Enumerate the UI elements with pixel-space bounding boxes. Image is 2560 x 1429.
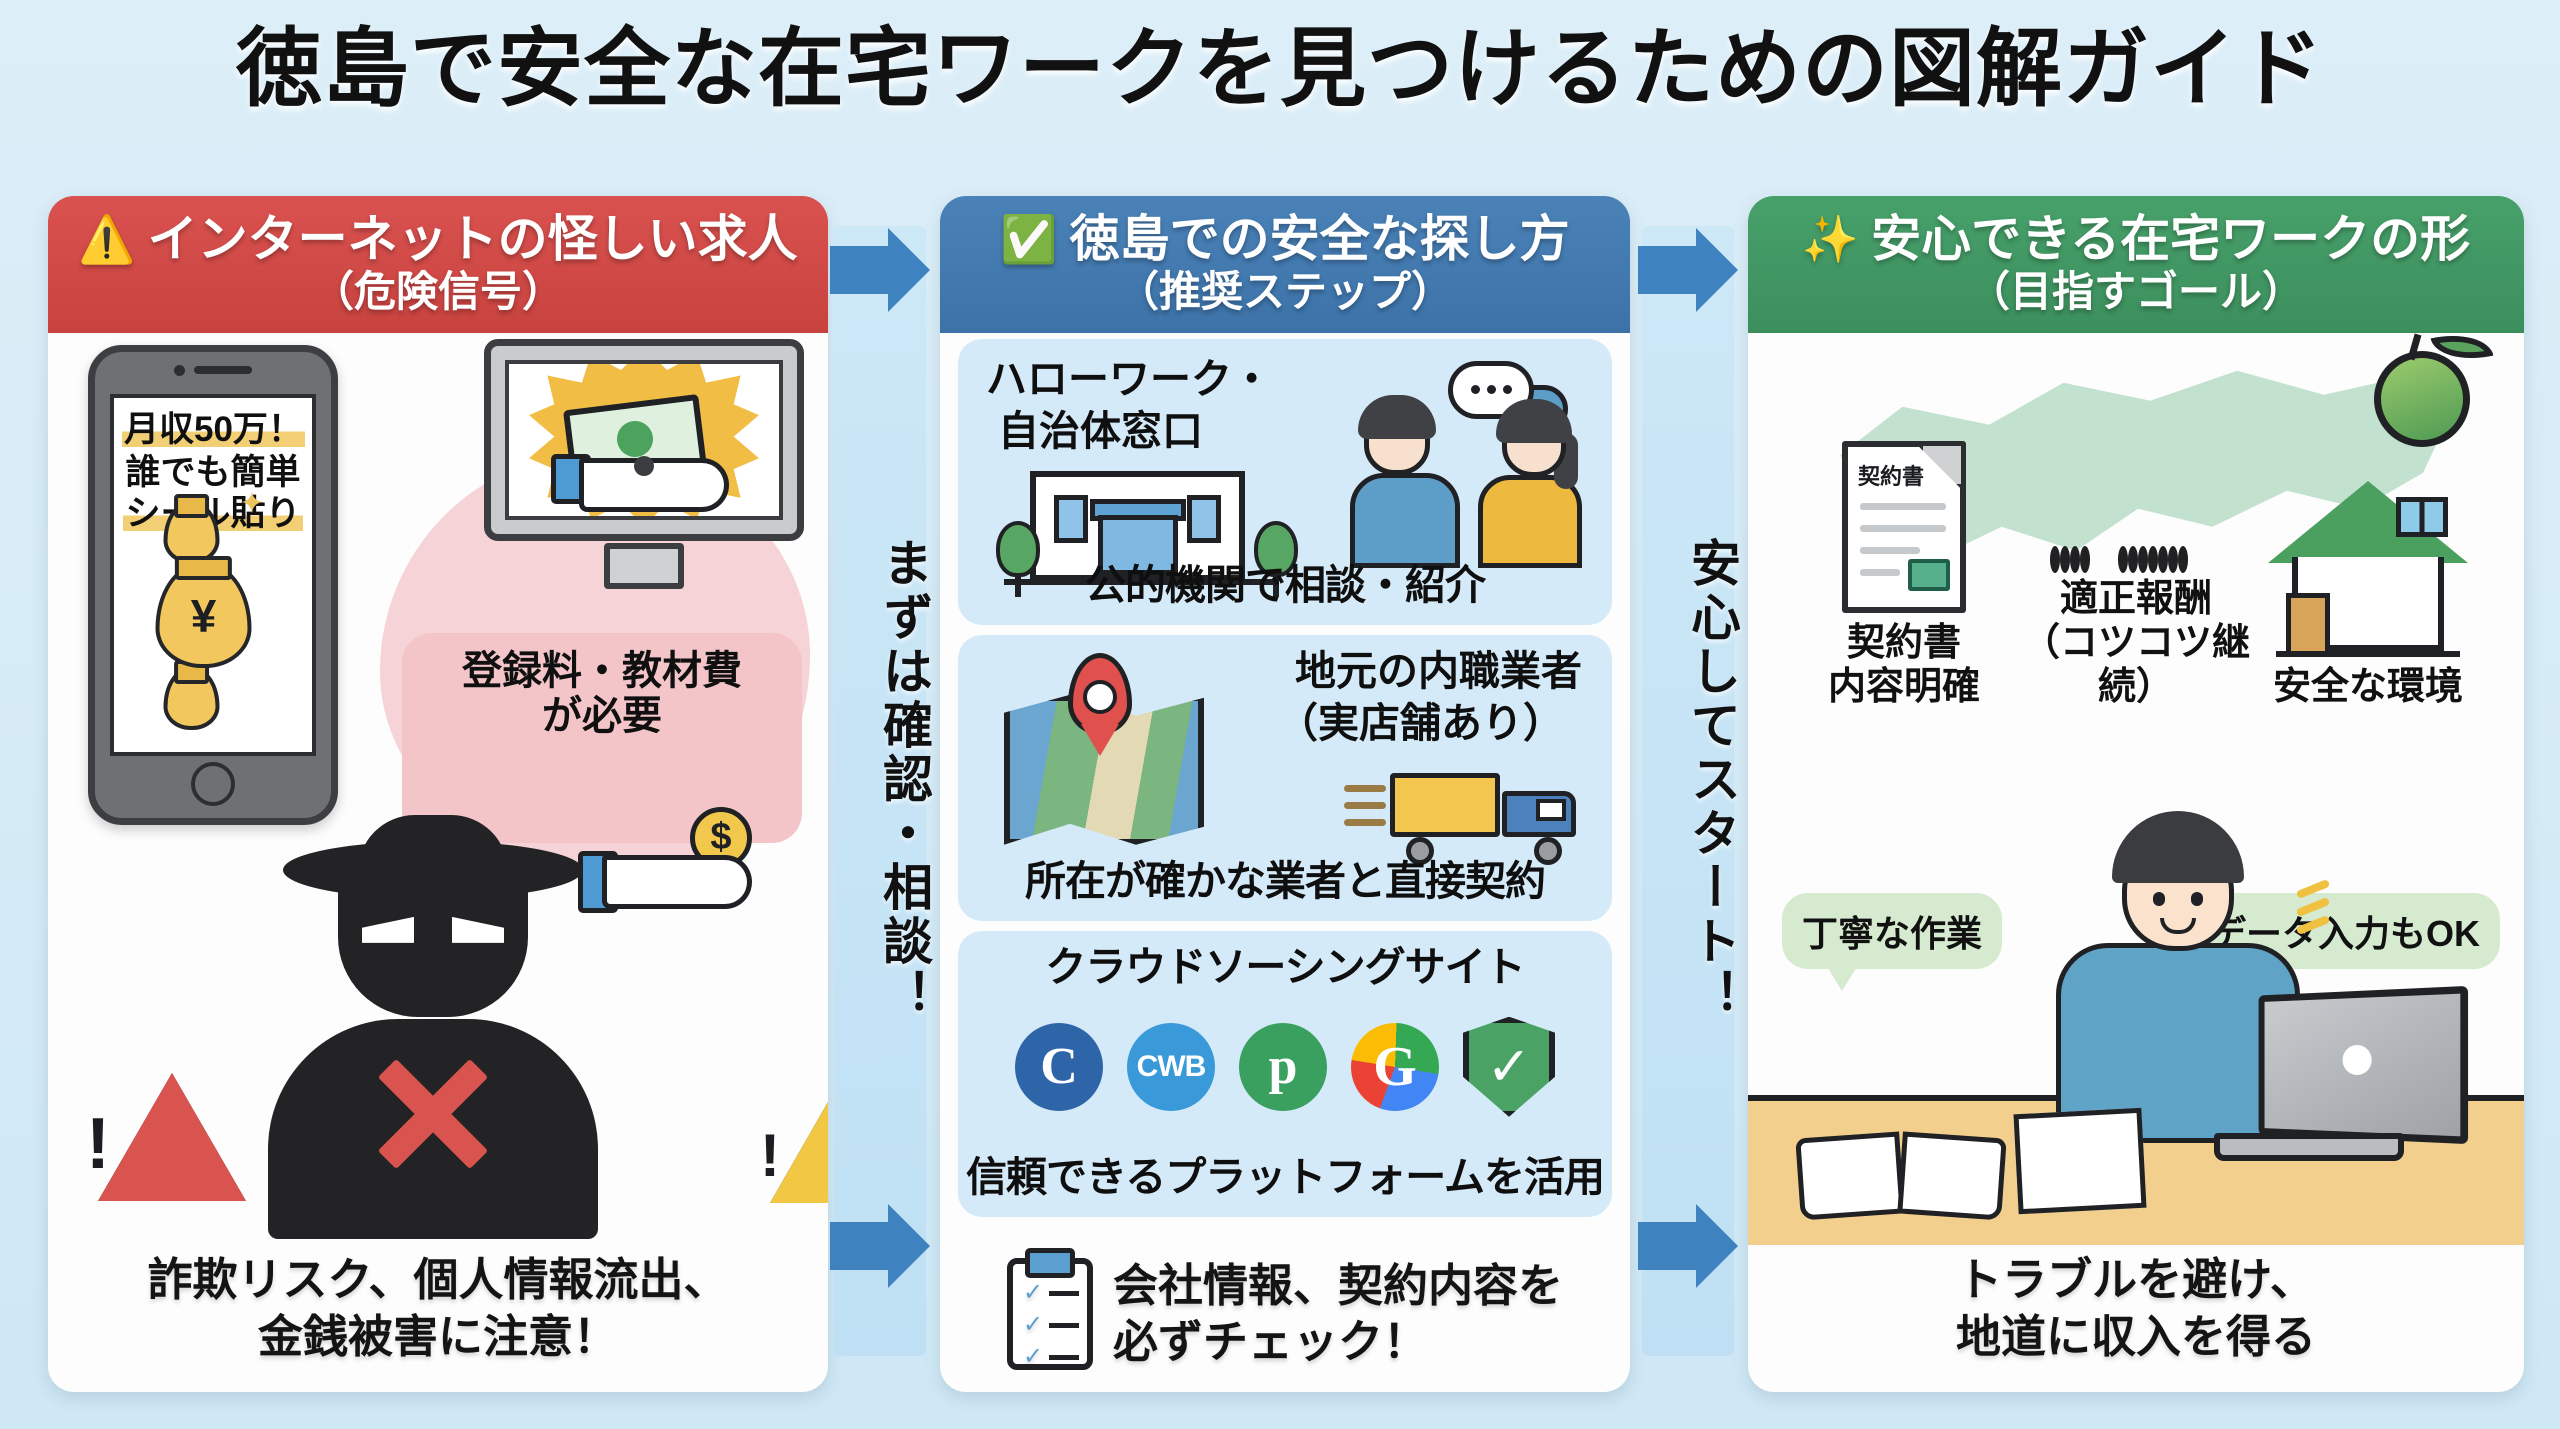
platform-logos-row: C CWB p G ✓	[958, 1017, 1612, 1117]
goal-label-contract: 契約書 内容明確	[1789, 621, 2019, 709]
open-book-icon	[1798, 1125, 2004, 1217]
desktop-monitor-illustration	[484, 339, 804, 589]
panel-goal-header: ✨ 安心できる在宅ワークの形 （目指すゴール）	[1748, 196, 2524, 333]
delivery-truck-icon	[1390, 767, 1576, 859]
panel-safe-body: ハローワーク・ 自治体窓口 公的機関で相談・紹介 地元の内職業者 （実店舗あり）	[940, 333, 1630, 1258]
checklist-clipboard-icon: ✓ ✓ ✓	[1007, 1258, 1093, 1370]
arrow-label-second: 安心してスタート！	[1628, 380, 1748, 1180]
coin-stacks-icon	[2046, 379, 2226, 569]
panel-goal-state: ✨ 安心できる在宅ワークの形 （目指すゴール） 契約書	[1748, 196, 2524, 1392]
platform-p-logo-icon: p	[1239, 1023, 1327, 1111]
scammer-silhouette-icon	[253, 819, 613, 1239]
smartphone-illustration: 月収50万！ 誰でも簡単 シール貼り ¥ ✦	[88, 345, 338, 825]
panel-safe-footer: ✓ ✓ ✓ 会社情報、契約内容を 必ずチェック！	[940, 1258, 1630, 1392]
safe-card-1-title-1: ハローワーク・	[986, 357, 1272, 402]
fee-bubble-line-2: が必要	[412, 694, 792, 739]
panel-danger-footer-line-1: 詐欺リスク、個人情報流出、	[58, 1251, 818, 1309]
goal-item-contract: 契約書 契約書 内容明確	[1789, 413, 2019, 709]
crowdworks-logo-icon: C	[1015, 1023, 1103, 1111]
sparkles-icon: ✨	[1802, 216, 1859, 262]
monitor-stand	[604, 543, 684, 589]
map-pin-icon	[1068, 653, 1132, 735]
panel-goal-footer: トラブルを避け、 地道に収入を得る	[1748, 1245, 2524, 1392]
safe-card-3-caption: 信頼できるプラットフォームを活用	[958, 1143, 1612, 1203]
arrow-right-icon-2	[826, 1200, 934, 1292]
panel-danger-body: 月収50万！ 誰でも簡単 シール貼り ¥ ✦	[48, 333, 828, 1245]
arrow-column-second: 安心してスタート！	[1628, 200, 1748, 1380]
arrow-label-first: まずは確認・相談！	[820, 380, 940, 1180]
safe-card-2-title-1: 地元の内職業者	[1295, 649, 1582, 694]
consultation-people-icon	[1344, 361, 1594, 571]
arrow-column-first: まずは確認・相談！	[820, 200, 940, 1380]
panel-danger-subtitle: （危険信号）	[56, 268, 820, 317]
laptop-icon	[2214, 993, 2464, 1161]
verified-shield-icon: ✓	[1463, 1017, 1555, 1117]
arrow-right-icon	[826, 224, 934, 316]
yen-symbol: ¥	[160, 568, 248, 664]
safe-card-2-caption: 所在が確かな業者と直接契約	[958, 847, 1612, 907]
panel-goal-footer-line-1: トラブルを避け、	[1758, 1251, 2514, 1309]
panel-safe-footer-line-1: 会社情報、契約内容を	[1113, 1258, 1563, 1314]
safe-card-1-title-2: 自治体窓口	[998, 409, 1203, 454]
safe-card-3-title-1: クラウドソーシングサイト	[958, 945, 1612, 990]
arrow-right-icon-3	[1634, 224, 1742, 316]
panel-goal-title: 安心できる在宅ワークの形	[1871, 210, 2470, 268]
safe-card-1-caption: 公的機関で相談・紹介	[958, 551, 1612, 611]
panel-danger-footer-line-2: 金銭被害に注意！	[58, 1308, 818, 1366]
panel-safe-search: ✅ 徳島での安全な探し方 （推奨ステップ） ハローワーク・ 自治体窓口 公的機関…	[940, 196, 1630, 1392]
phone-notch	[174, 365, 252, 376]
panel-safe-header: ✅ 徳島での安全な探し方 （推奨ステップ）	[940, 196, 1630, 333]
goal-item-fair-pay: 適正報酬 （コツコツ継続）	[2021, 369, 2251, 709]
sparkle-lines-icon	[2296, 875, 2330, 939]
goal-item-safe-env: 安全な環境	[2253, 457, 2483, 709]
page-title: 徳島で安全な在宅ワークを見つけるための図解ガイド	[0, 22, 2560, 117]
goal-label-fair-pay: 適正報酬 （コツコツ継続）	[2021, 577, 2251, 709]
contract-document-icon: 契約書	[1842, 441, 1966, 613]
panel-goal-footer-line-2: 地道に収入を得る	[1758, 1308, 2514, 1366]
panel-safe-subtitle: （推奨ステップ）	[948, 268, 1622, 317]
safe-card-crowdsourcing[interactable]: クラウドソーシングサイト C CWB p G ✓ 信頼できるプラットフォームを活…	[958, 931, 1612, 1217]
badge-careful-work: 丁寧な作業	[1782, 893, 2002, 969]
money-bags-icon: ¥ ✦	[164, 502, 263, 730]
panel-safe-title: 徳島での安全な探し方	[1070, 210, 1570, 268]
goal-icon-row: 契約書 契約書 内容明確	[1748, 369, 2524, 709]
house-icon	[2268, 481, 2468, 657]
panel-goal-subtitle: （目指すゴール）	[1756, 268, 2516, 317]
phone-screen: 月収50万！ 誰でも簡単 シール貼り ¥ ✦	[110, 394, 316, 756]
red-x-mark-icon	[368, 1049, 498, 1179]
panel-goal-body: 契約書 契約書 内容明確	[1748, 333, 2524, 1245]
paper-sheet-icon	[2013, 1108, 2146, 1215]
panel-danger-title: インターネットの怪しい求人	[148, 210, 798, 268]
warning-triangle-icon: ⚠️	[78, 216, 135, 262]
arrow-right-icon-4	[1634, 1200, 1742, 1292]
fee-bubble-line-1: 登録料・教材費	[412, 649, 792, 694]
safe-card-2-title-2: （実店舗あり）	[1277, 701, 1564, 746]
contract-doc-label: 契約書	[1858, 459, 1924, 491]
sparkle-icon: ✦	[239, 486, 264, 521]
panel-danger-signals: ⚠️ インターネットの怪しい求人 （危険信号） 月収50万！ 誰でも簡単 シール…	[48, 196, 828, 1392]
safe-card-local-vendor[interactable]: 地元の内職業者 （実店舗あり） 所在が確かな業者と直接契約	[958, 635, 1612, 921]
green-check-icon: ✅	[1000, 216, 1057, 262]
cwb-logo-icon: CWB	[1127, 1023, 1215, 1111]
safe-card-hellowork[interactable]: ハローワーク・ 自治体窓口 公的機関で相談・紹介	[958, 339, 1612, 625]
phone-ad-line-2: 誰でも簡単	[122, 455, 304, 490]
google-logo-icon: G	[1351, 1023, 1439, 1111]
phone-ad-line-1: 月収50万！	[122, 412, 304, 447]
panel-danger-header: ⚠️ インターネットの怪しい求人 （危険信号）	[48, 196, 828, 333]
goal-label-safe-env: 安全な環境	[2253, 665, 2483, 709]
phone-home-button	[191, 762, 235, 806]
panel-danger-footer: 詐欺リスク、個人情報流出、 金銭被害に注意！	[48, 1245, 828, 1392]
seal-stamp-icon	[1908, 559, 1950, 591]
panel-safe-footer-line-2: 必ずチェック！	[1113, 1314, 1563, 1370]
